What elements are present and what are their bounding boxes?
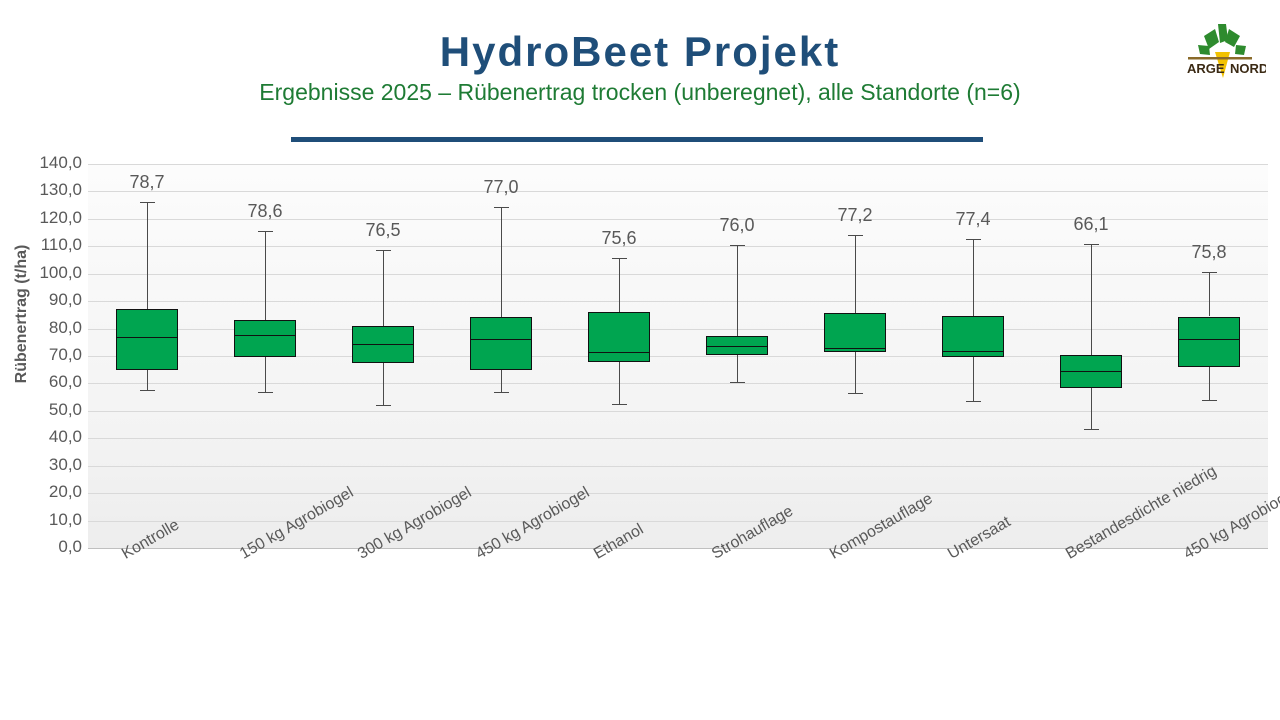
upper-whisker-cap	[376, 250, 391, 251]
box[interactable]	[116, 309, 178, 371]
upper-whisker	[383, 250, 384, 325]
box[interactable]	[234, 320, 296, 356]
box[interactable]	[470, 317, 532, 370]
lower-whisker	[619, 362, 620, 404]
boxplot-group[interactable]: 78,7	[88, 164, 206, 548]
y-tick-label: 140,0	[0, 153, 82, 173]
x-axis-labels: Kontrolle150 kg Agrobiogel300 kg Agrobio…	[88, 548, 1268, 718]
y-tick-label: 60,0	[0, 372, 82, 392]
page-subtitle: Ergebnisse 2025 – Rübenertrag trocken (u…	[0, 80, 1280, 105]
title-block: HydroBeet Projekt Ergebnisse 2025 – Rübe…	[0, 30, 1280, 105]
lower-whisker-cap	[848, 393, 863, 394]
median-line	[470, 339, 532, 340]
y-tick-label: 80,0	[0, 318, 82, 338]
lower-whisker-cap	[258, 392, 273, 393]
data-label: 77,0	[483, 177, 518, 198]
data-label: 75,8	[1191, 242, 1226, 263]
lower-whisker	[147, 370, 148, 390]
lower-whisker-cap	[140, 390, 155, 391]
median-line	[234, 335, 296, 336]
upper-whisker-cap	[848, 235, 863, 236]
boxplot-group[interactable]: 76,0	[678, 164, 796, 548]
boxplot-group[interactable]: 77,2	[796, 164, 914, 548]
data-label: 78,6	[247, 201, 282, 222]
y-tick-label: 110,0	[0, 235, 82, 255]
arge-nord-logo: ARGE NORD	[1174, 16, 1266, 82]
median-line	[588, 352, 650, 353]
median-line	[706, 346, 768, 347]
y-tick-label: 70,0	[0, 345, 82, 365]
lower-whisker	[855, 352, 856, 393]
lower-whisker	[973, 357, 974, 401]
lower-whisker-cap	[1084, 429, 1099, 430]
lower-whisker	[737, 355, 738, 382]
y-tick-label: 120,0	[0, 208, 82, 228]
lower-whisker-cap	[376, 405, 391, 406]
plot-area: 78,778,676,577,075,676,077,277,466,175,8	[88, 164, 1268, 548]
boxplot-chart: Rübenertrag (t/ha) 0,010,020,030,040,050…	[0, 150, 1280, 720]
upper-whisker	[855, 235, 856, 313]
upper-whisker	[147, 202, 148, 309]
upper-whisker-cap	[730, 245, 745, 246]
lower-whisker	[1209, 367, 1210, 400]
y-tick-label: 0,0	[0, 537, 82, 557]
upper-whisker-cap	[612, 258, 627, 259]
upper-whisker-cap	[1084, 244, 1099, 245]
boxplot-group[interactable]: 66,1	[1032, 164, 1150, 548]
upper-whisker	[1091, 244, 1092, 356]
upper-whisker-cap	[494, 207, 509, 208]
median-line	[116, 337, 178, 338]
logo-graphic: ARGE NORD	[1174, 16, 1266, 82]
y-tick-label: 20,0	[0, 482, 82, 502]
data-label: 75,6	[601, 228, 636, 249]
upper-whisker-cap	[1202, 272, 1217, 273]
upper-whisker	[973, 239, 974, 316]
box[interactable]	[1178, 317, 1240, 367]
lower-whisker-cap	[966, 401, 981, 402]
lower-whisker	[1091, 388, 1092, 430]
upper-whisker	[1209, 272, 1210, 317]
logo-text-left: ARGE	[1187, 61, 1225, 76]
page-title: HydroBeet Projekt	[0, 30, 1280, 74]
median-line	[352, 344, 414, 345]
box[interactable]	[824, 313, 886, 352]
y-tick-label: 40,0	[0, 427, 82, 447]
data-label: 76,5	[365, 220, 400, 241]
y-tick-label: 10,0	[0, 510, 82, 530]
y-tick-label: 90,0	[0, 290, 82, 310]
y-tick-label: 50,0	[0, 400, 82, 420]
upper-whisker-cap	[966, 239, 981, 240]
upper-whisker	[265, 231, 266, 320]
y-tick-label: 30,0	[0, 455, 82, 475]
y-tick-label: 130,0	[0, 180, 82, 200]
median-line	[824, 348, 886, 349]
lower-whisker	[265, 357, 266, 392]
boxplot-group[interactable]: 78,6	[206, 164, 324, 548]
data-label: 77,4	[955, 209, 990, 230]
logo-text-right: NORD	[1230, 61, 1266, 76]
data-label: 66,1	[1073, 214, 1108, 235]
median-line	[1178, 339, 1240, 340]
upper-whisker-cap	[140, 202, 155, 203]
title-underline	[291, 137, 983, 142]
soil-line	[1188, 57, 1252, 60]
lower-whisker	[383, 363, 384, 406]
upper-whisker	[501, 207, 502, 317]
boxplot-group[interactable]: 77,4	[914, 164, 1032, 548]
data-label: 77,2	[837, 205, 872, 226]
lower-whisker	[501, 370, 502, 392]
upper-whisker	[619, 258, 620, 312]
lower-whisker-cap	[494, 392, 509, 393]
lower-whisker-cap	[612, 404, 627, 405]
upper-whisker	[737, 245, 738, 336]
leaf-icon	[1198, 24, 1246, 55]
median-line	[942, 351, 1004, 352]
slide-root: HydroBeet Projekt Ergebnisse 2025 – Rübe…	[0, 0, 1280, 720]
upper-whisker-cap	[258, 231, 273, 232]
y-tick-label: 100,0	[0, 263, 82, 283]
lower-whisker-cap	[730, 382, 745, 383]
data-label: 78,7	[129, 172, 164, 193]
box[interactable]	[588, 312, 650, 362]
median-line	[1060, 371, 1122, 372]
data-label: 76,0	[719, 215, 754, 236]
lower-whisker-cap	[1202, 400, 1217, 401]
